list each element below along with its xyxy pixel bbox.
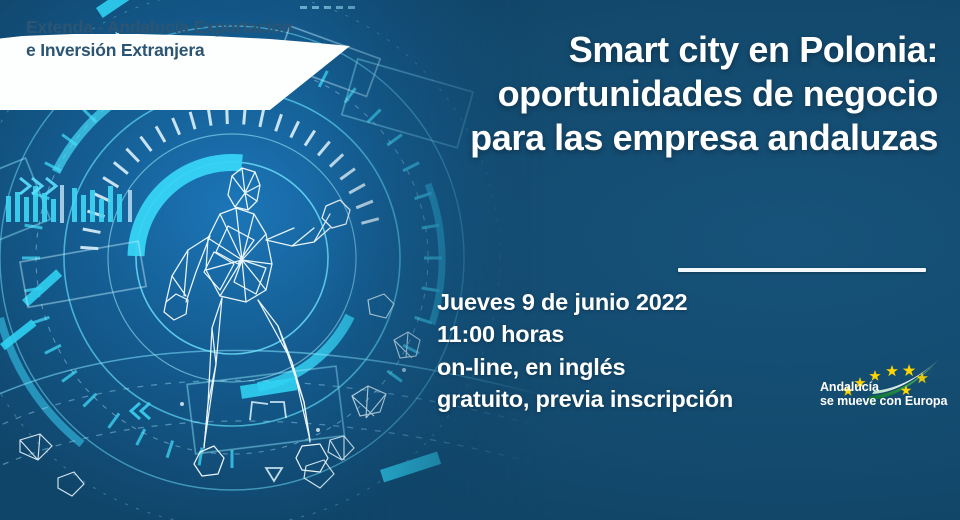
event-title-line1: Smart city en Polonia:	[418, 28, 938, 72]
andalucia-europa-logo: Andalucía se mueve con Europa	[818, 352, 950, 414]
title-divider-rule	[678, 268, 926, 272]
logo-caption-line1: Andalucía	[820, 380, 947, 394]
event-price: gratuito, previa inscripción	[437, 383, 733, 415]
event-poster: Extenda - Andalucía Exportación e Invers…	[0, 0, 960, 520]
organization-name-line1: Extenda - Andalucía Exportación	[26, 16, 326, 39]
event-title: Smart city en Polonia: oportunidades de …	[418, 28, 938, 160]
event-details: Jueves 9 de junio 2022 11:00 horas on-li…	[437, 286, 733, 416]
event-title-line2: oportunidades de negocio	[418, 72, 938, 116]
event-title-line3: para las empresa andaluzas	[418, 116, 938, 160]
organization-name-line2: e Inversión Extranjera	[26, 39, 326, 62]
event-format: on-line, en inglés	[437, 351, 733, 383]
organization-banner-text: Extenda - Andalucía Exportación e Invers…	[26, 16, 326, 62]
event-time: 11:00 horas	[437, 318, 733, 350]
logo-caption: Andalucía se mueve con Europa	[820, 380, 947, 408]
event-date: Jueves 9 de junio 2022	[437, 286, 733, 318]
logo-caption-line2: se mueve con Europa	[820, 394, 947, 408]
